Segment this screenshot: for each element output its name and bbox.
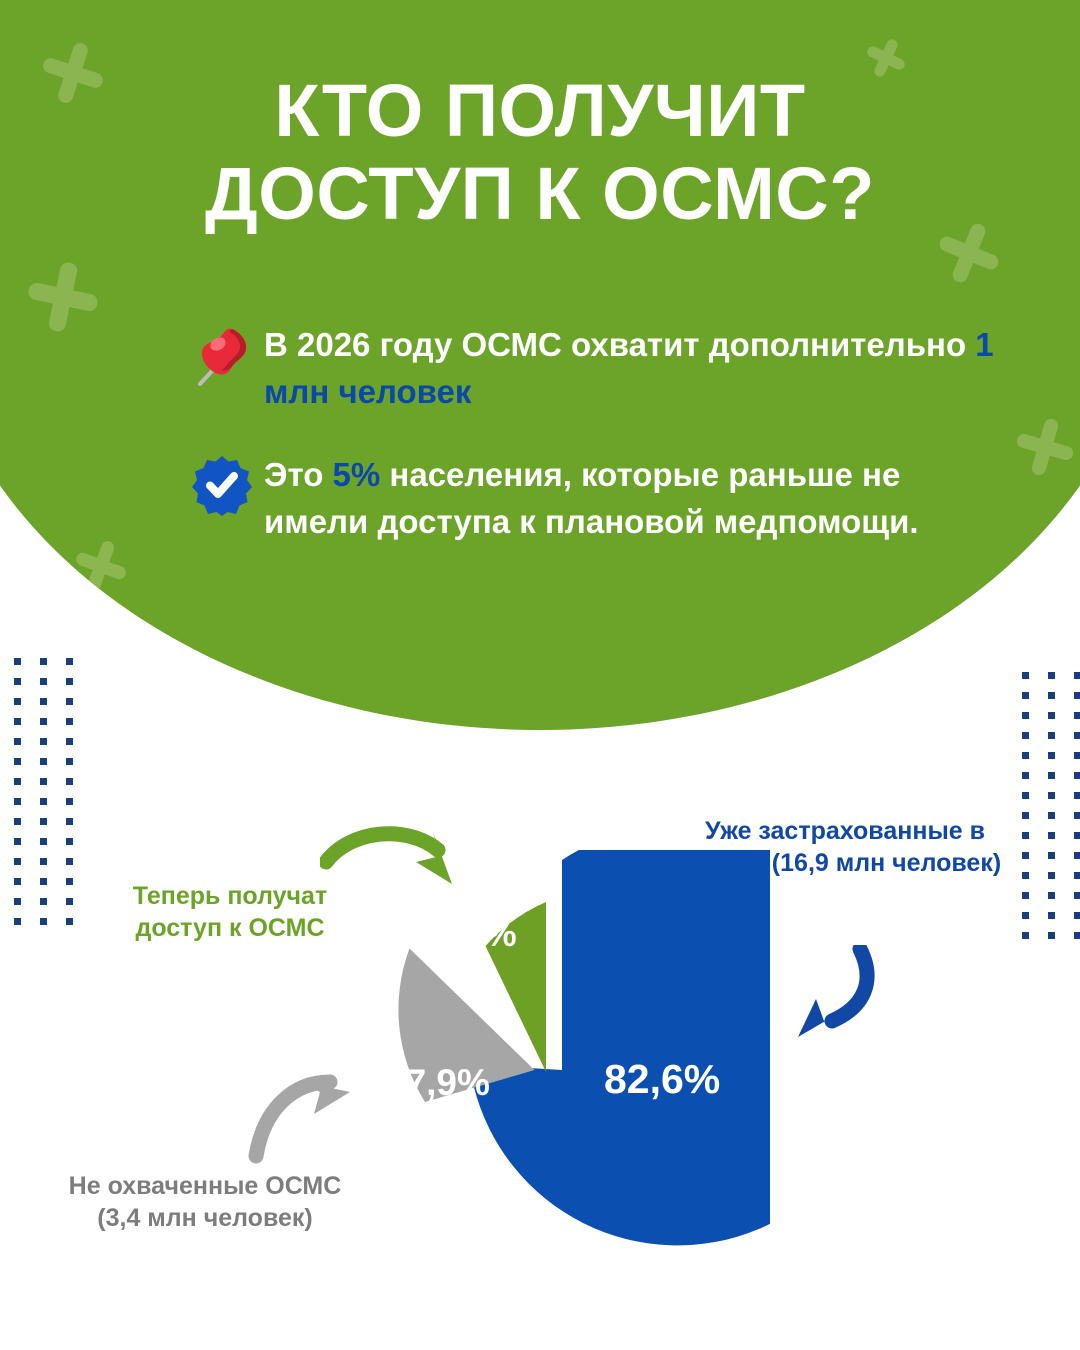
verified-check-icon [180,452,264,516]
dot [14,718,21,725]
bullet-text-before: В 2026 году ОСМС охватит дополнительно [264,326,975,363]
dot [1074,672,1080,679]
dot [1048,732,1055,739]
bullet-text: Это 5% населения, которые раньше не имел… [264,452,1000,546]
plus-decor-icon [68,533,135,600]
blue-arrow-icon [776,945,886,1055]
dot [1074,712,1080,719]
page-title-line1: КТО ПОЛУЧИТ [90,70,990,153]
bullet-item: Это 5% населения, которые раньше не имел… [180,452,1000,546]
dot [1074,692,1080,699]
dot [1048,692,1055,699]
header-panel: КТО ПОЛУЧИТ ДОСТУП К ОСМС? В [0,0,1080,730]
dot [40,698,47,705]
dot [1022,672,1029,679]
bullet-item: В 2026 году ОСМС охватит дополнительно 1… [180,322,1000,416]
dot [40,658,47,665]
pie-value-newly-covered: 5% [466,915,517,955]
dot [1048,672,1055,679]
bullet-list: В 2026 году ОСМС охватит дополнительно 1… [180,322,1000,581]
dot [1022,692,1029,699]
dot [66,658,73,665]
dot [1022,732,1029,739]
header-content: КТО ПОЛУЧИТ ДОСТУП К ОСМС? В [0,0,1080,730]
dot [14,678,21,685]
pie-value-uncovered: 17,9% [385,1062,490,1104]
pie-chart-section: Уже застрахованные в ОСМС (16,9 млн чело… [0,740,1080,1350]
dot [40,718,47,725]
pie-slice-insured [470,850,771,1245]
pie-value-insured: 82,6% [604,1056,720,1103]
page-title: КТО ПОЛУЧИТ ДОСТУП К ОСМС? [0,70,1080,236]
infographic-canvas: КТО ПОЛУЧИТ ДОСТУП К ОСМС? В [0,0,1080,1350]
dot [14,698,21,705]
dot [1074,732,1080,739]
plus-decor-icon [21,255,104,338]
pushpin-icon [180,322,264,386]
dot [14,658,21,665]
dot [1022,712,1029,719]
dot [66,698,73,705]
bullet-text-before: Это [264,456,333,493]
bullet-text: В 2026 году ОСМС охватит дополнительно 1… [264,322,1000,416]
plus-decor-icon [1009,411,1080,483]
dot [66,678,73,685]
dot [66,718,73,725]
page-title-line2: ДОСТУП К ОСМС? [90,153,990,236]
dot [40,678,47,685]
bullet-highlight: 5% [333,456,381,493]
dot [1048,712,1055,719]
